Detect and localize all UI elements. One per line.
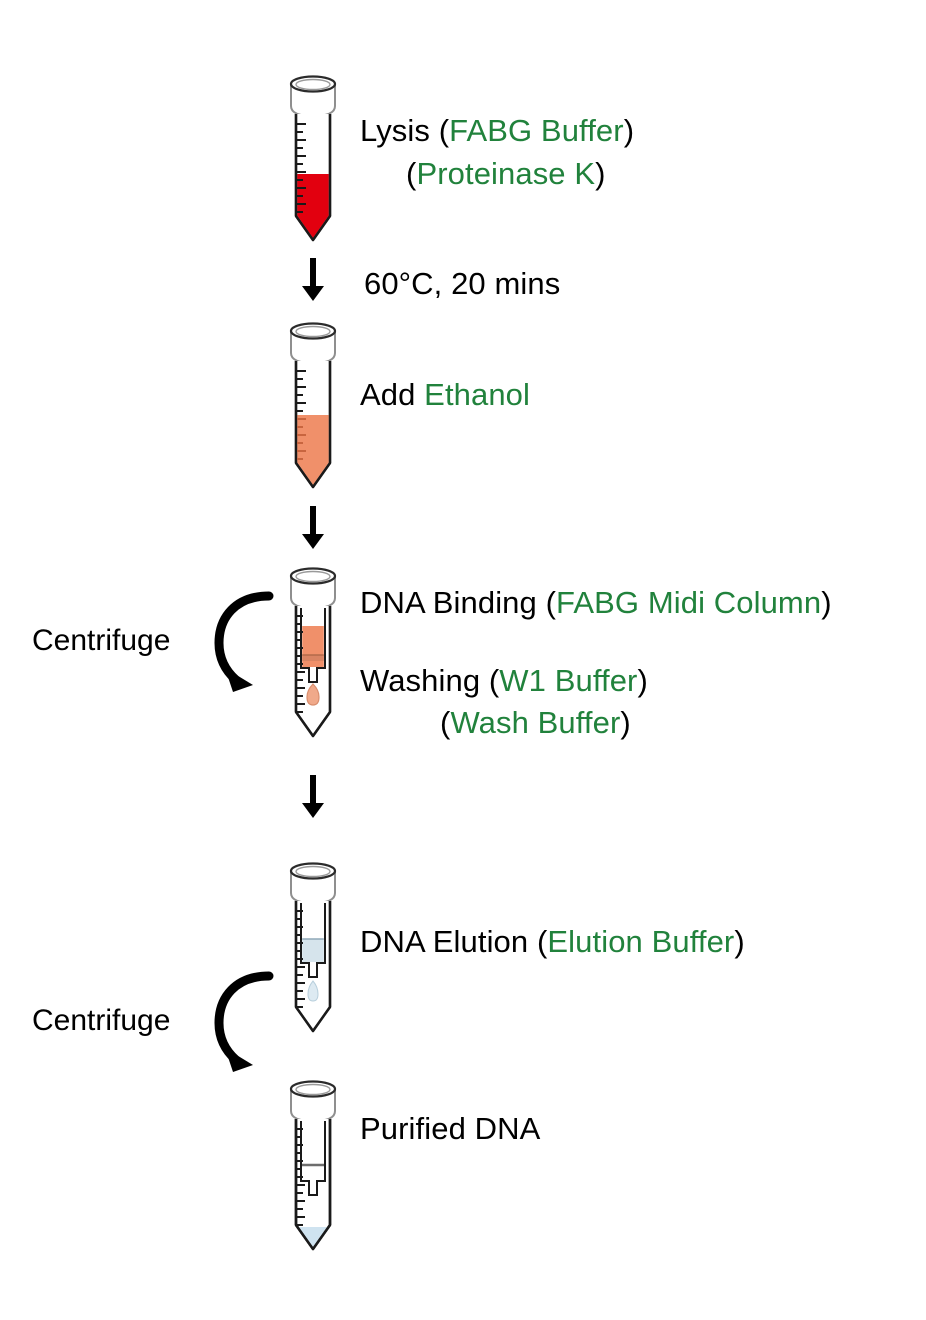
tube-dna-binding	[281, 560, 345, 750]
label-text: (	[440, 705, 450, 740]
arrow-down-3	[298, 775, 328, 819]
label-text-green: Elution Buffer	[547, 924, 734, 959]
arrow-down-1	[298, 258, 328, 302]
label-text: Add	[360, 377, 424, 412]
label-text: )	[624, 113, 634, 148]
label-text: )	[620, 705, 630, 740]
centrifuge-label-2: Centrifuge	[32, 1004, 170, 1038]
arrow-centrifuge-1	[205, 588, 285, 698]
label-text-green: FABG Midi Column	[556, 585, 821, 620]
label-text-green: W1 Buffer	[499, 663, 637, 698]
label-text: )	[734, 924, 744, 959]
step-label-lysis-line2: (Proteinase K)	[406, 152, 606, 195]
centrifuge-text: Centrifuge	[32, 624, 170, 657]
label-text: DNA Elution (	[360, 924, 547, 959]
workflow-diagram: Lysis (FABG Buffer) (Proteinase K) 60°C,…	[0, 0, 926, 1320]
step-label-purified-dna: Purified DNA	[360, 1107, 540, 1150]
step-label-add-ethanol: Add Ethanol	[360, 373, 530, 416]
centrifuge-label-1: Centrifuge	[32, 624, 170, 658]
centrifuge-text: Centrifuge	[32, 1004, 170, 1037]
tube-dna-elution	[281, 855, 345, 1045]
tube-lysis	[281, 68, 345, 248]
tube-add-ethanol	[281, 315, 345, 495]
label-text: Washing (	[360, 663, 499, 698]
label-text: Lysis (	[360, 113, 449, 148]
label-text: )	[595, 156, 605, 191]
label-text: DNA Binding (	[360, 585, 556, 620]
label-text: )	[637, 663, 647, 698]
label-text-green: Ethanol	[424, 377, 530, 412]
step-label-washing-line1: Washing (W1 Buffer)	[360, 659, 648, 702]
arrow-down-2	[298, 506, 328, 550]
label-text-green: FABG Buffer	[449, 113, 624, 148]
step-label-lysis-line1: Lysis (FABG Buffer)	[360, 109, 634, 152]
label-text-green: Wash Buffer	[450, 705, 620, 740]
label-text: Purified DNA	[360, 1111, 540, 1146]
annotation-temp-time: 60°C, 20 mins	[364, 262, 560, 305]
label-text: )	[821, 585, 831, 620]
step-label-dna-elution: DNA Elution (Elution Buffer)	[360, 920, 745, 963]
tube-purified-dna	[281, 1073, 345, 1263]
step-label-washing-line2: (Wash Buffer)	[440, 701, 631, 744]
label-text-green: Proteinase K	[416, 156, 595, 191]
label-text: (	[406, 156, 416, 191]
arrow-centrifuge-2	[205, 968, 285, 1078]
step-label-dna-binding: DNA Binding (FABG Midi Column)	[360, 581, 832, 624]
annotation-text: 60°C, 20 mins	[364, 266, 560, 301]
